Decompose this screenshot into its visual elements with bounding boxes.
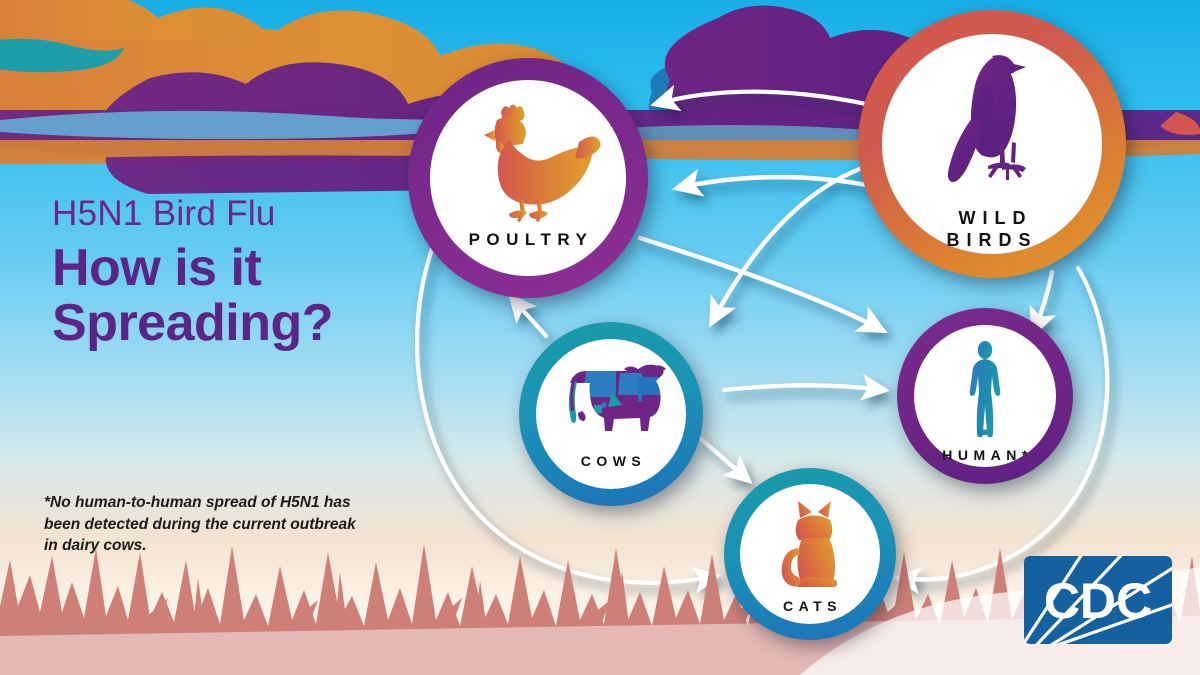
chicken-icon: [453, 96, 603, 224]
arrow-poultry-to-human: [640, 238, 882, 330]
cdc-logo-text: CDC: [1044, 573, 1152, 629]
node-poultry[interactable]: POULTRY: [408, 58, 648, 298]
eyebrow-text: H5N1 Bird Flu: [52, 196, 452, 233]
footnote-text: *No human-to-human spread of H5N1 has be…: [44, 492, 364, 557]
headline-block: H5N1 Bird Flu How is it Spreading?: [52, 196, 452, 352]
node-poultry-inner: POULTRY: [430, 80, 626, 276]
cat-icon: [768, 498, 852, 592]
arrow-wildbirds-to-human: [1034, 272, 1052, 332]
node-cows[interactable]: COWS: [519, 322, 703, 506]
node-poultry-label: POULTRY: [463, 230, 594, 251]
node-human[interactable]: HUMAN*: [897, 308, 1073, 484]
arrow-cows-to-poultry: [512, 298, 546, 336]
arrow-wildbirds-to-poultry-top: [656, 92, 884, 108]
node-cats-inner: CATS: [740, 484, 880, 624]
arrow-wildbirds-to-cows: [712, 168, 862, 322]
node-cats[interactable]: CATS: [724, 468, 896, 640]
node-cows-label: COWS: [576, 453, 647, 470]
node-wild-birds-inner: WILD BIRDS: [882, 34, 1102, 254]
node-cows-inner: COWS: [536, 339, 686, 489]
infographic-canvas: H5N1 Bird Flu How is it Spreading? *No h…: [0, 0, 1200, 675]
node-human-label: HUMAN*: [937, 447, 1033, 464]
arrow-cows-to-human: [724, 386, 884, 391]
page-title: How is it Spreading?: [52, 241, 452, 352]
node-wild-birds[interactable]: WILD BIRDS: [858, 10, 1126, 278]
cdc-logo[interactable]: CDC: [1024, 556, 1172, 644]
person-icon: [956, 341, 1014, 437]
bird-icon: [922, 46, 1062, 206]
node-human-inner: HUMAN*: [914, 325, 1056, 467]
cow-icon: [552, 361, 670, 445]
node-cats-label: CATS: [778, 598, 842, 615]
node-wild-birds-label: WILD BIRDS: [946, 208, 1037, 252]
arrow-cows-to-cats: [700, 438, 748, 480]
